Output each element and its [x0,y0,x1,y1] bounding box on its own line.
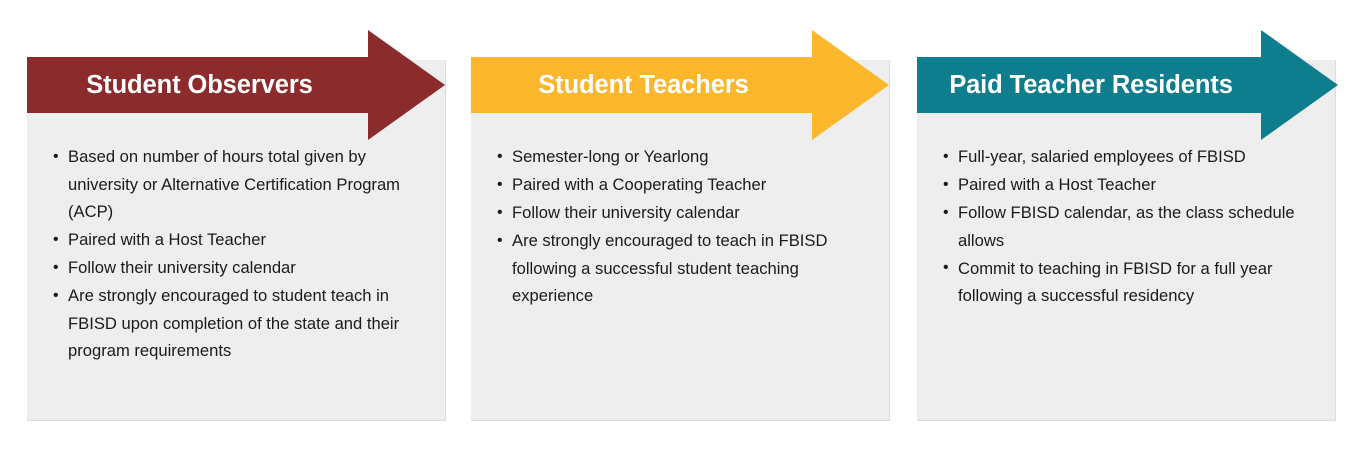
list-item: Are strongly encouraged to student teach… [53,282,430,365]
bullet-list-student-teachers: Semester-long or Yearlong Paired with a … [497,143,874,310]
list-item: Follow FBISD calendar, as the class sche… [943,199,1323,254]
arrow-banner-paid-teacher-residents: Paid Teacher Residents [917,30,1338,140]
infographic-canvas: Student Observers Based on number of hou… [0,0,1361,450]
arrow-banner-student-observers: Student Observers [27,30,445,140]
list-item: Follow their university calendar [497,199,874,227]
list-item: Follow their university calendar [53,254,430,282]
list-item: Are strongly encouraged to teach in FBIS… [497,227,874,310]
list-item: Commit to teaching in FBISD for a full y… [943,255,1323,310]
arrow-shape-paid-teacher-residents [917,30,1338,140]
arrow-shape-student-observers [27,30,445,140]
arrow-shape-student-teachers [471,30,889,140]
bullet-list-student-observers: Based on number of hours total given by … [53,143,430,365]
list-item: Based on number of hours total given by … [53,143,430,226]
list-item: Paired with a Host Teacher [53,226,430,254]
list-item: Paired with a Host Teacher [943,171,1323,199]
list-item: Paired with a Cooperating Teacher [497,171,874,199]
bullet-list-paid-teacher-residents: Full-year, salaried employees of FBISD P… [943,143,1323,310]
list-item: Full-year, salaried employees of FBISD [943,143,1323,171]
list-item: Semester-long or Yearlong [497,143,874,171]
arrow-banner-student-teachers: Student Teachers [471,30,889,140]
